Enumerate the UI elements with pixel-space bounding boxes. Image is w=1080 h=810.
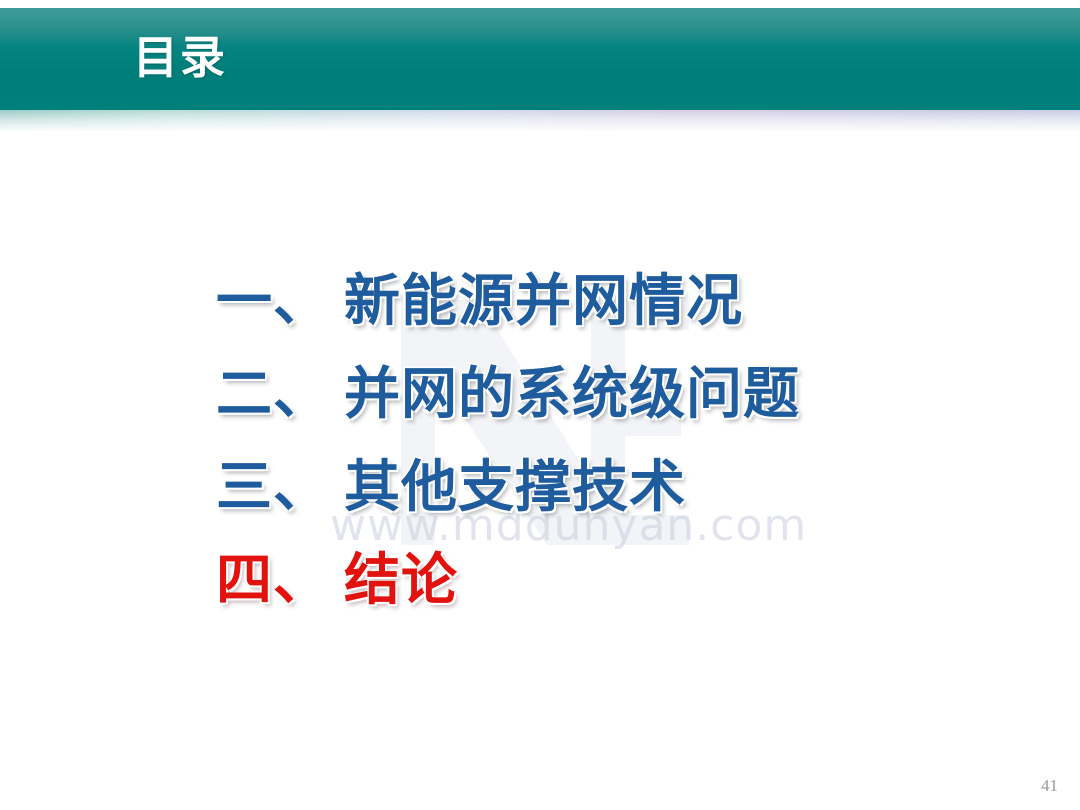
toc-item-4-label: 结论 bbox=[344, 553, 458, 609]
toc-item-2[interactable]: 二、 并网的系统级问题 bbox=[0, 348, 1080, 441]
slide-canvas: www.mdduhyan.com 目录 一、 新能源并网情况 二、 并网的系统级… bbox=[0, 0, 1080, 810]
page-number: 41 bbox=[1041, 776, 1058, 796]
toc-item-1[interactable]: 一、 新能源并网情况 bbox=[0, 255, 1080, 348]
toc-item-4-number: 四、 bbox=[216, 553, 330, 609]
page-title: 目录 bbox=[133, 35, 227, 80]
toc-item-3[interactable]: 三、 其他支撑技术 bbox=[0, 441, 1080, 534]
toc-item-2-label: 并网的系统级问题 bbox=[344, 367, 800, 423]
toc-item-3-number: 三、 bbox=[216, 460, 330, 516]
toc-item-3-label: 其他支撑技术 bbox=[344, 460, 686, 516]
header-bar: 目录 bbox=[0, 8, 1080, 110]
toc-item-1-label: 新能源并网情况 bbox=[344, 274, 743, 330]
toc-item-1-number: 一、 bbox=[216, 274, 330, 330]
toc-list: 一、 新能源并网情况 二、 并网的系统级问题 三、 其他支撑技术 四、 结论 bbox=[0, 255, 1080, 627]
toc-item-2-number: 二、 bbox=[216, 367, 330, 423]
toc-item-4[interactable]: 四、 结论 bbox=[0, 534, 1080, 627]
header-underglow bbox=[0, 110, 1080, 132]
